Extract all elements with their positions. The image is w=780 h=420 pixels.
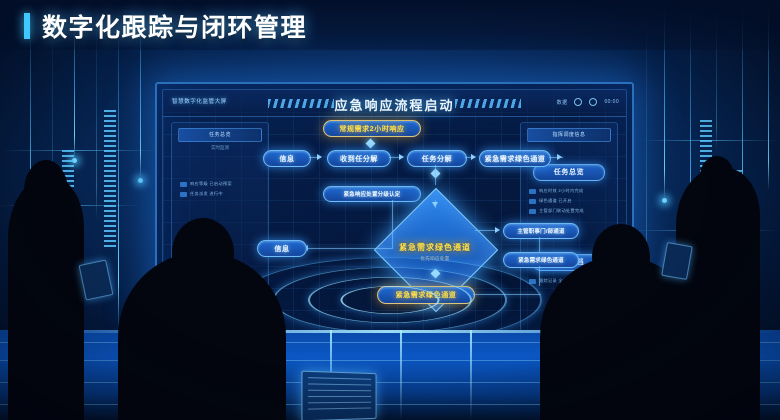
flow-arrow [317, 154, 322, 160]
slide-canvas: 智慧数字化监管大屏 应急响应流程启动 数据 00:00 任务总览 实时监测 响应… [0, 0, 780, 420]
flow-node-task-breakdown[interactable]: 任务分解 [407, 150, 467, 167]
title-accent-bar [24, 13, 30, 39]
list-item-label: 响应等级 已启动预案 [190, 181, 232, 187]
flow-arrow [557, 154, 562, 160]
flow-arrow [432, 202, 438, 207]
flow-arrow [495, 227, 500, 233]
flow-node-green-channel-1[interactable]: 紧急需求绿色通道 [479, 150, 551, 167]
flow-node-info-1[interactable]: 信息 [263, 150, 311, 167]
row-chip-icon [180, 182, 187, 187]
left-panel-rows: 响应等级 已启动预案 任务派发 进行中 [180, 181, 260, 197]
list-item-label: 主管部门联动处置完成 [539, 208, 584, 214]
header-decoration-right [455, 99, 521, 108]
left-panel-subtitle: 实时监测 [178, 145, 262, 151]
person-silhouette-standing-left [8, 178, 84, 420]
person-silhouette-standing-right [676, 168, 760, 420]
alert-icon[interactable] [574, 98, 582, 106]
right-panel-header: 指挥调度信息 [527, 128, 611, 142]
title-banner: 数字化跟踪与闭环管理 [0, 0, 780, 50]
list-item-label: 响应时效 2小时内完成 [539, 188, 583, 194]
laptop-content [308, 377, 371, 415]
list-item-label: 绿色通道 已开启 [539, 198, 572, 204]
data-icon[interactable]: 数据 [557, 99, 568, 106]
flow-node-regular-response[interactable]: 常规需求2小时响应 [323, 120, 421, 137]
laptop-screen [301, 371, 376, 420]
flow-node-receive-task[interactable]: 收到任分解 [327, 150, 391, 167]
screen-header: 智慧数字化监管大屏 应急响应流程启动 数据 00:00 [163, 90, 626, 117]
clock-icon: 00:00 [604, 99, 619, 105]
list-item-label: 任务派发 进行中 [190, 191, 223, 197]
list-item[interactable]: 绿色通道 已开启 [529, 198, 609, 204]
flow-arrow [399, 154, 404, 160]
settings-icon[interactable] [589, 98, 597, 106]
list-item[interactable]: 响应时效 2小时内完成 [529, 188, 609, 194]
list-item[interactable]: 主管部门联动处置完成 [529, 208, 609, 214]
right-panel-rows: 响应时效 2小时内完成 绿色通道 已开启 主管部门联动处置完成 [529, 188, 609, 214]
list-item[interactable]: 响应等级 已启动预案 [180, 181, 260, 187]
page-title: 数字化跟踪与闭环管理 [42, 8, 307, 44]
flow-arrow [471, 154, 476, 160]
flow-diamond-label: 紧急需求绿色通道 [375, 242, 495, 253]
screen-status-icons: 数据 00:00 [557, 98, 619, 106]
person-silhouette-seated-left [118, 252, 286, 420]
flow-node-green-channel-2[interactable]: 紧急需求绿色通道 [503, 252, 579, 268]
list-item[interactable]: 任务派发 进行中 [180, 191, 260, 197]
flow-node-info-2[interactable]: 信息 [257, 240, 307, 257]
flow-node-grading[interactable]: 紧急响应处置分级认定 [323, 186, 421, 202]
row-chip-icon [180, 192, 187, 197]
title-wrap: 数字化跟踪与闭环管理 [24, 8, 307, 44]
flow-connector-dot [366, 139, 376, 149]
flow-node-department-channel[interactable]: 主管职事门/部通道 [503, 223, 579, 239]
left-panel-header: 任务总览 [178, 128, 262, 142]
